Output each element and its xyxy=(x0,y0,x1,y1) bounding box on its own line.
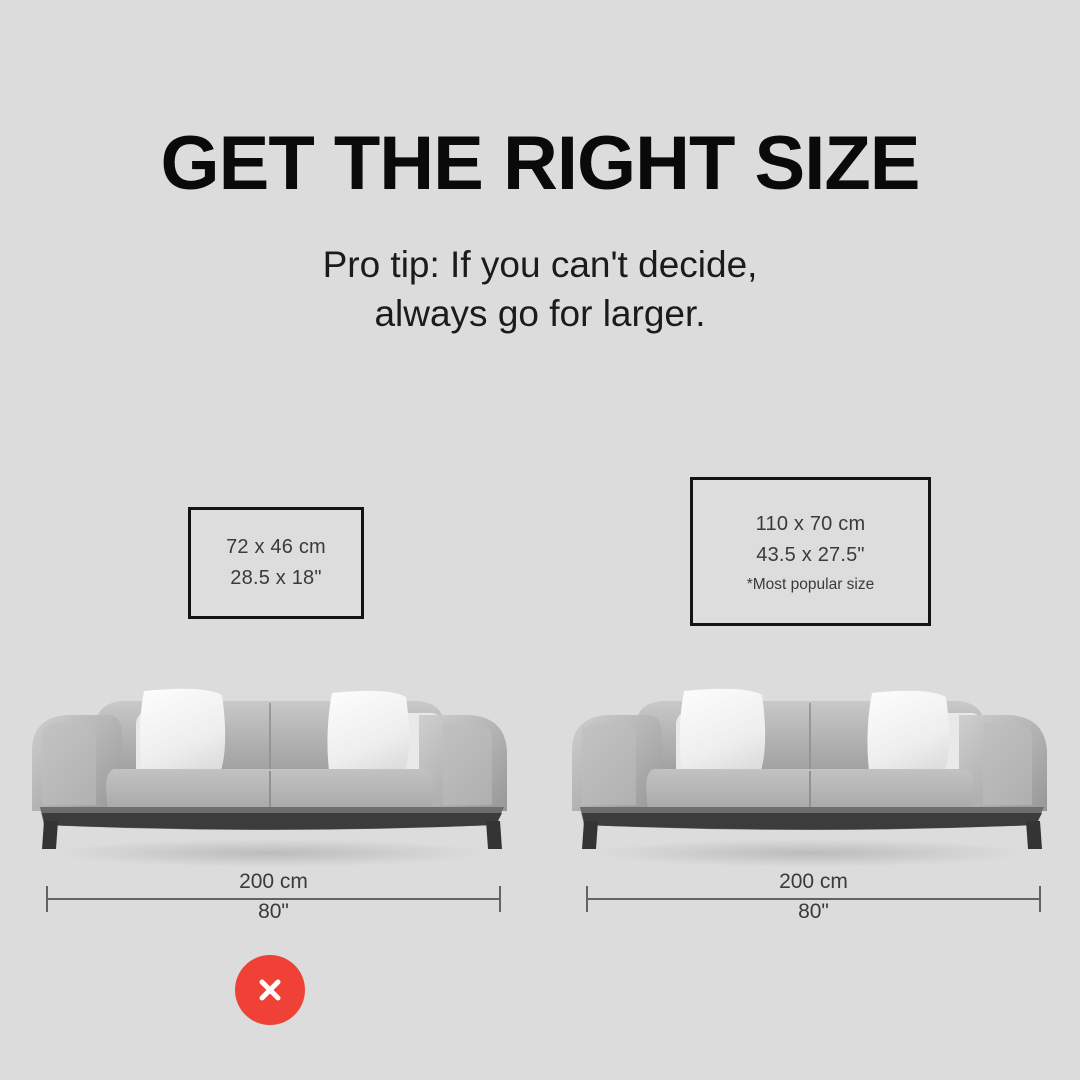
artwork-frame-large: 110 x 70 cm 43.5 x 27.5" *Most popular s… xyxy=(690,477,931,626)
sofa-width-measurement-left: 200 cm 80" xyxy=(46,875,501,921)
gray-sofa-icon xyxy=(18,655,523,870)
artwork-size-metric: 72 x 46 cm xyxy=(226,532,326,563)
artwork-size-imperial: 43.5 x 27.5" xyxy=(756,540,864,571)
artwork-popular-note: *Most popular size xyxy=(747,576,875,594)
measure-label-metric: 200 cm xyxy=(586,871,1041,892)
sofa-illustration-right xyxy=(558,655,1063,870)
gray-sofa-icon xyxy=(558,655,1063,870)
comparison-column-left: 72 x 46 cm 28.5 x 18" xyxy=(0,0,540,1080)
measure-label-imperial: 80" xyxy=(586,901,1041,922)
artwork-size-metric: 110 x 70 cm xyxy=(756,509,866,540)
sofa-width-measurement-right: 200 cm 80" xyxy=(586,875,1041,921)
measure-label-imperial: 80" xyxy=(46,901,501,922)
artwork-size-imperial: 28.5 x 18" xyxy=(230,563,321,594)
artwork-frame-small: 72 x 46 cm 28.5 x 18" xyxy=(188,507,364,619)
cross-icon xyxy=(253,973,287,1007)
measure-label-metric: 200 cm xyxy=(46,871,501,892)
verdict-badge-incorrect xyxy=(235,955,305,1025)
sofa-illustration-left xyxy=(18,655,523,870)
comparison-column-right: 110 x 70 cm 43.5 x 27.5" *Most popular s… xyxy=(540,0,1080,1080)
